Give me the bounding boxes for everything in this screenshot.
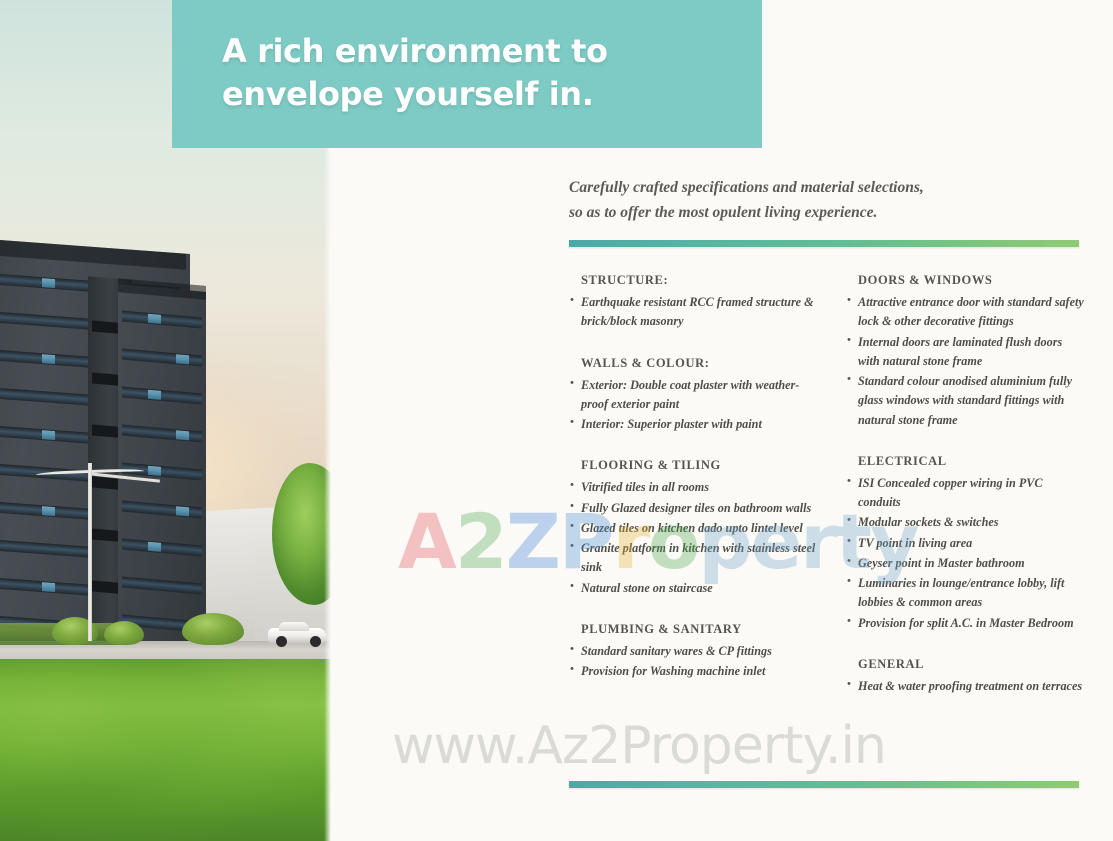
car-wheel [276,636,287,647]
spec-section-title: WALLS & COLOUR: [581,356,819,371]
specifications-panel: Carefully crafted specifications and mat… [331,148,1113,841]
spec-section-title: GENERAL [858,657,1086,672]
spec-bullet-item: ISI Concealed copper wiring in PVC condu… [846,474,1086,513]
page-title-line1: A rich environment to [222,30,742,73]
spec-section: DOORS & WINDOWSAttractive entrance door … [846,273,1086,430]
spec-section-title: ELECTRICAL [858,454,1086,469]
shrub [104,621,144,645]
spec-bullet-item: Standard colour anodised aluminium fully… [846,372,1086,430]
spec-section: FLOORING & TILINGVitrified tiles in all … [569,458,819,598]
spec-bullet-item: Exterior: Double coat plaster with weath… [569,376,819,415]
spec-bullet-item: Glazed tiles on kitchen dado upto lintel… [569,519,819,538]
spec-bullet-item: Luminaries in lounge/entrance lobby, lif… [846,574,1086,613]
divider-top [569,240,1079,247]
spec-bullet-item: Provision for Washing machine inlet [569,662,819,681]
spec-bullet-list: Heat & water proofing treatment on terra… [846,677,1086,696]
spec-bullet-list: Exterior: Double coat plaster with weath… [569,376,819,435]
spec-section-title: STRUCTURE: [581,273,819,288]
intro-line1: Carefully crafted specifications and mat… [569,175,1069,200]
spec-bullet-item: Interior: Superior plaster with paint [569,415,819,434]
spec-bullet-list: Earthquake resistant RCC framed structur… [569,293,819,332]
spec-section: ELECTRICALISI Concealed copper wiring in… [846,454,1086,633]
spec-bullet-item: Internal doors are laminated flush doors… [846,333,1086,372]
intro-text: Carefully crafted specifications and mat… [569,175,1069,225]
brochure-page: A rich environment to envelope yourself … [0,0,1113,841]
specs-column-right: DOORS & WINDOWSAttractive entrance door … [846,273,1086,720]
spec-section-title: DOORS & WINDOWS [858,273,1086,288]
spec-bullet-item: Granite platform in kitchen with stainle… [569,539,819,578]
spec-bullet-list: Standard sanitary wares & CP fittingsPro… [569,642,819,682]
header-banner: A rich environment to envelope yourself … [172,0,762,148]
spec-section: PLUMBING & SANITARYStandard sanitary war… [569,622,819,682]
spec-bullet-item: Natural stone on staircase [569,579,819,598]
spec-section: GENERALHeat & water proofing treatment o… [846,657,1086,696]
street-lamp-pole [88,463,92,641]
car-roof [279,622,309,631]
spec-section-title: PLUMBING & SANITARY [581,622,819,637]
spec-bullet-item: Fully Glazed designer tiles on bathroom … [569,499,819,518]
spec-section-title: FLOORING & TILING [581,458,819,473]
page-title-line2: envelope yourself in. [222,73,742,116]
divider-bottom [569,781,1079,788]
spec-bullet-list: Vitrified tiles in all roomsFully Glazed… [569,478,819,598]
spec-section: STRUCTURE:Earthquake resistant RCC frame… [569,273,819,332]
spec-bullet-item: Geyser point in Master bathroom [846,554,1086,573]
specs-column-left: STRUCTURE:Earthquake resistant RCC frame… [569,273,819,705]
spec-bullet-list: Attractive entrance door with standard s… [846,293,1086,430]
spec-bullet-item: Standard sanitary wares & CP fittings [569,642,819,661]
spec-bullet-item: Vitrified tiles in all rooms [569,478,819,497]
spec-bullet-item: TV point in living area [846,534,1086,553]
spec-bullet-item: Heat & water proofing treatment on terra… [846,677,1086,696]
spec-bullet-item: Attractive entrance door with standard s… [846,293,1086,332]
spec-bullet-item: Modular sockets & switches [846,513,1086,532]
lawn [0,659,331,841]
spec-section: WALLS & COLOUR:Exterior: Double coat pla… [569,356,819,435]
shrub [182,613,244,645]
page-title: A rich environment to envelope yourself … [222,30,742,116]
car-wheel [310,636,321,647]
spec-bullet-item: Earthquake resistant RCC framed structur… [569,293,819,332]
spec-bullet-list: ISI Concealed copper wiring in PVC condu… [846,474,1086,633]
spec-bullet-item: Provision for split A.C. in Master Bedro… [846,614,1086,633]
intro-line2: so as to offer the most opulent living e… [569,200,1069,225]
